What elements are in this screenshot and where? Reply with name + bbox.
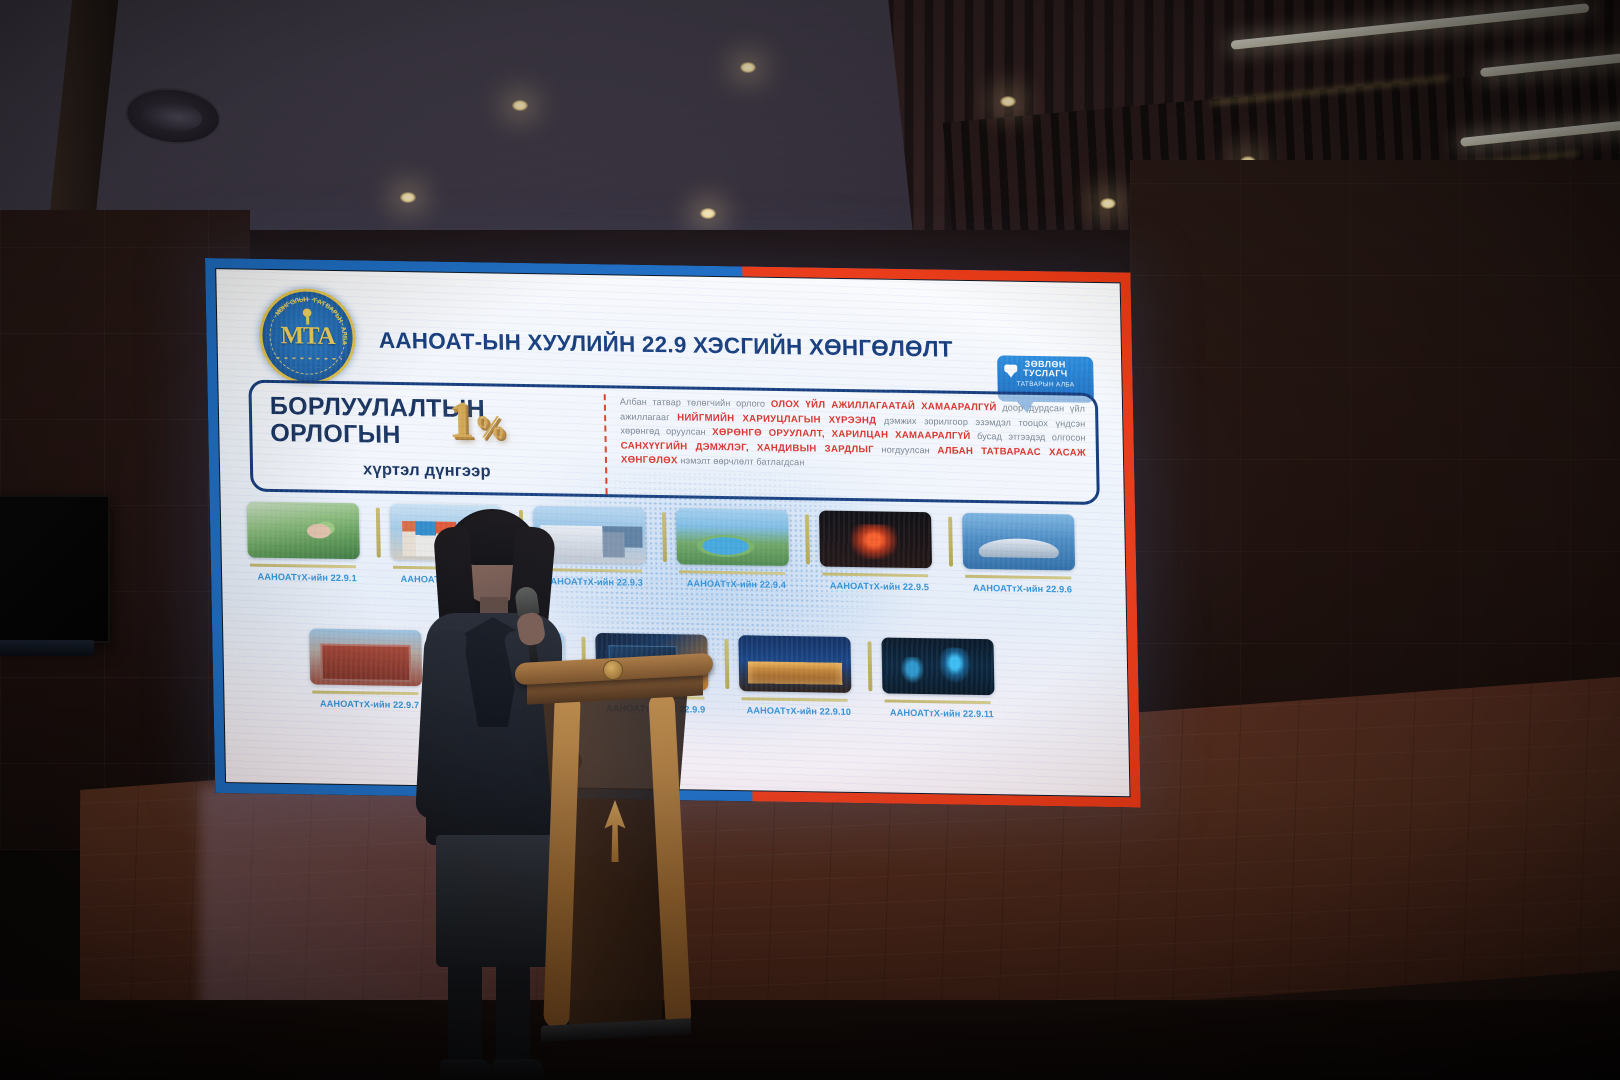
ceiling-downlight <box>512 100 528 111</box>
ceiling-downlight <box>1100 198 1116 209</box>
ceiling-downlight <box>400 192 416 203</box>
ceiling-downlight <box>1000 96 1016 107</box>
boot-left <box>440 1059 492 1080</box>
podium-medallion-icon <box>603 660 623 680</box>
conference-hall: МТА МОНГОЛЫН ТАТВАРЫН АЛБА ААНОАТ-ЫН ХУУ… <box>0 0 1620 1080</box>
house-floor <box>0 1000 1620 1080</box>
speaking-podium <box>505 650 725 1050</box>
monitor-stand <box>0 640 94 656</box>
ceiling-downlight <box>740 62 756 73</box>
boot-right <box>492 1059 544 1080</box>
screen-border-red <box>742 266 1141 807</box>
wall-monitor <box>0 495 110 643</box>
ceiling-downlight <box>700 208 716 219</box>
